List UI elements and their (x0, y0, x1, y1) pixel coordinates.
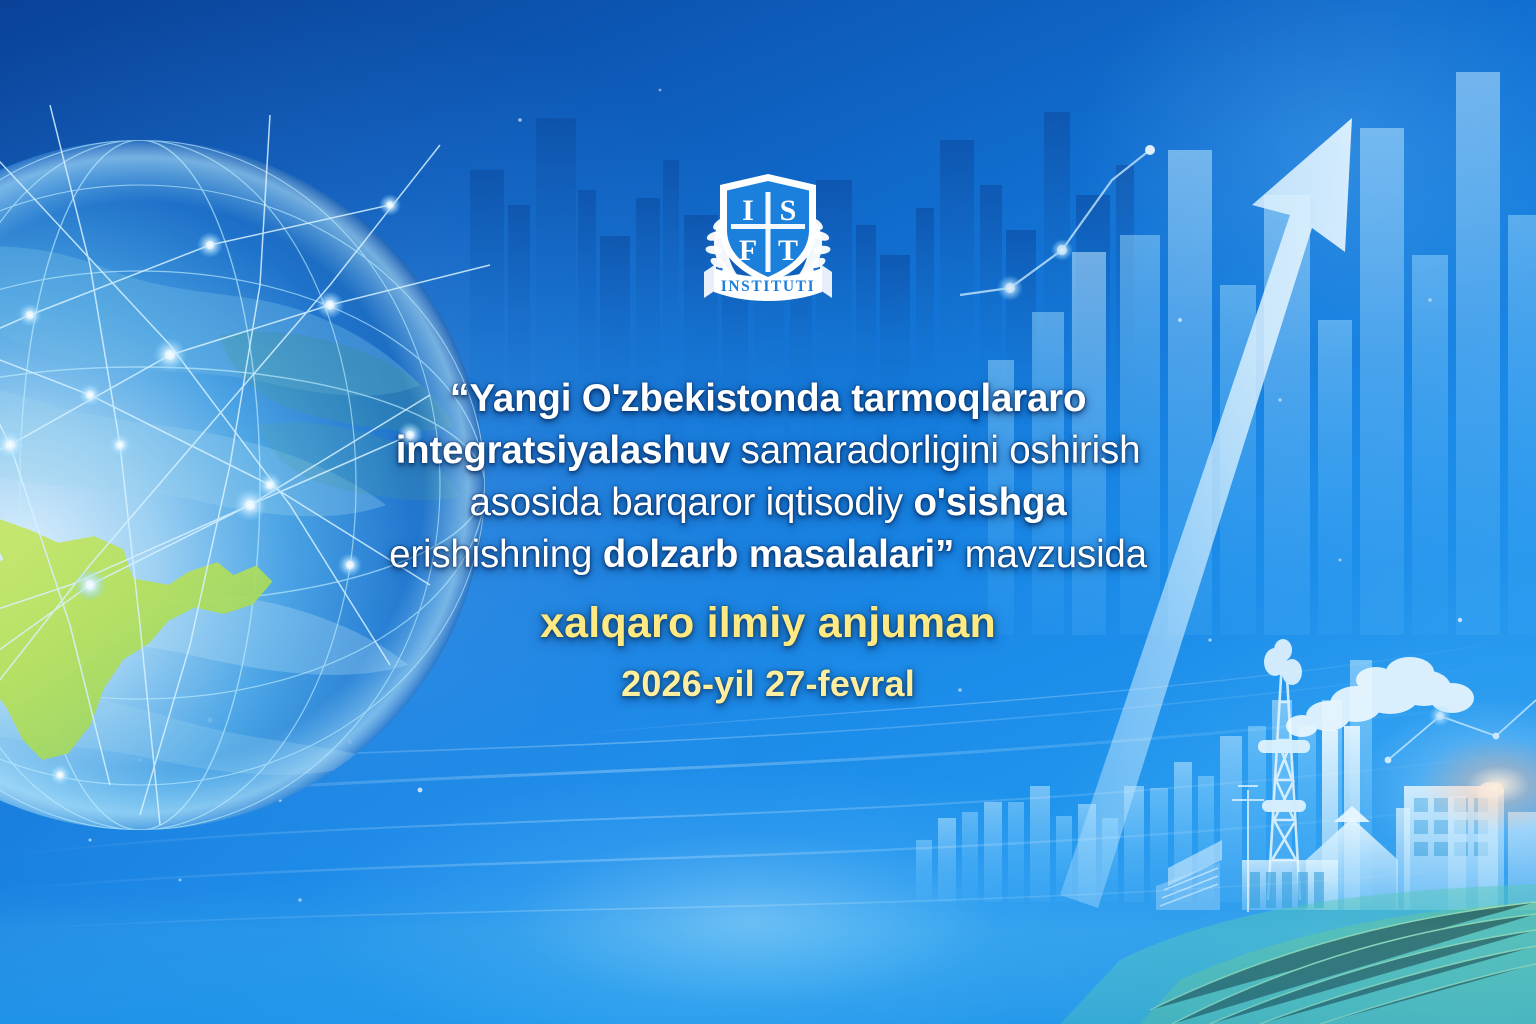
title-line-2-regular: samaradorligini oshirish (730, 429, 1140, 472)
title-line-1-bold: Yangi O'zbekistonda tarmoqlararo (470, 377, 1087, 420)
event-date: 2026-yil 27-fevral (263, 662, 1273, 706)
title-line-4-tail: mavzusida (954, 533, 1147, 576)
ribbon-banner-text: INSTITUTI (721, 278, 816, 295)
isft-institute-shield-logo: I S F T INSTITUTI (698, 168, 838, 304)
shield-letter-i: I (742, 194, 754, 227)
title-line-3-regular: asosida barqaror iqtisodiy (469, 481, 913, 524)
shield-letter-t: T (778, 234, 798, 267)
title-line-4-bold: dolzarb masalalari (603, 533, 935, 576)
title-line-1: “Yangi O'zbekistonda tarmoqlararo (263, 372, 1273, 425)
title-line-3-bold: o'sishga (913, 481, 1066, 524)
shield-letter-s: S (780, 194, 797, 227)
title-line-4-regular: erishishning (389, 533, 603, 576)
shield-letter-f: F (739, 234, 757, 267)
title-line-3: asosida barqaror iqtisodiy o'sishga (263, 477, 1273, 529)
opening-quote: “ (450, 376, 470, 420)
title-line-2: integratsiyalashuv samaradorligini oshir… (263, 425, 1273, 477)
title-line-2-bold: integratsiyalashuv (396, 429, 730, 472)
conference-poster: I S F T INSTITUTI “Yangi O'zbekistonda t… (0, 0, 1536, 1024)
closing-quote: ” (935, 533, 954, 576)
event-headline: xalqaro ilmiy anjuman (263, 596, 1273, 651)
title-line-4: erishishning dolzarb masalalari” mavzusi… (263, 529, 1273, 581)
conference-title-block: “Yangi O'zbekistonda tarmoqlararo integr… (263, 372, 1273, 706)
